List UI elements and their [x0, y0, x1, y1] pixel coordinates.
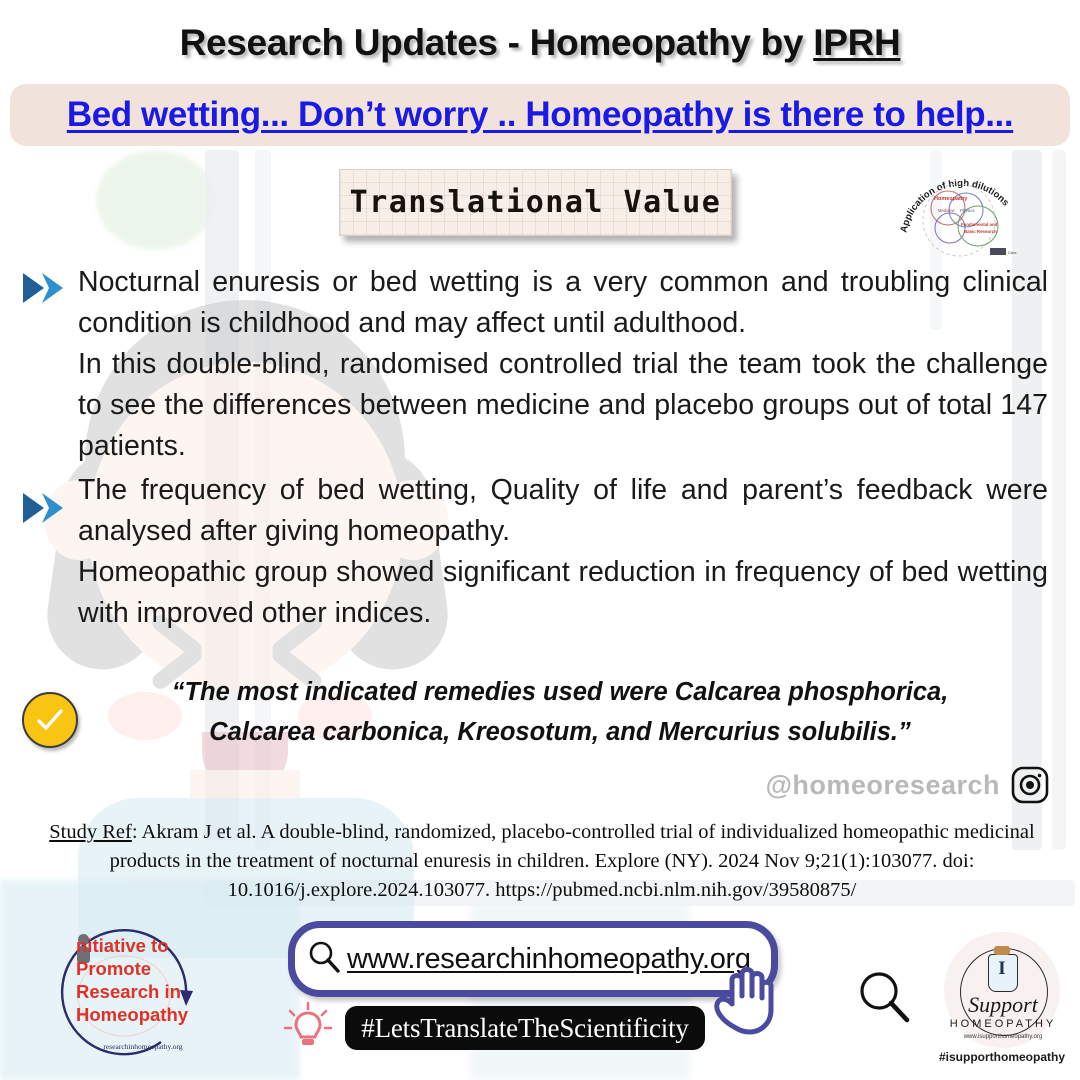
- instagram-handle: @homeoresearch: [766, 770, 1000, 801]
- check-circle-icon: [22, 692, 78, 748]
- iprh-line-2: Promote: [76, 957, 216, 980]
- svg-text:Homeopathy: Homeopathy: [934, 196, 968, 202]
- paragraph-two: The frequency of bed wetting, Quality of…: [78, 470, 1048, 634]
- study-ref-label: Study Ref: [49, 821, 132, 843]
- website-search-bar[interactable]: www.researchinhomeopathy.org: [288, 921, 778, 997]
- search-icon: [855, 968, 913, 1026]
- search-icon: [307, 940, 341, 979]
- study-ref-citation: : Akram J et al. A double-blind, randomi…: [110, 821, 1035, 901]
- iprh-logo-text: nitiative to Promote Research in Homeopa…: [76, 934, 216, 1026]
- quote-line-2: Calcarea carbonica, Kreosotum, and Mercu…: [110, 712, 1010, 752]
- lightbulb-icon: [282, 1001, 334, 1055]
- svg-text:Fundamental and: Fundamental and: [961, 222, 998, 227]
- page-title-text: Research Updates - Homeopathy by: [180, 22, 814, 63]
- paragraph-one-sentence-2: In this double-blind, randomised control…: [78, 344, 1048, 467]
- green-blob: [96, 150, 216, 250]
- iprh-logo-url: researchinhomeopathy.org: [68, 1042, 218, 1051]
- double-chevron-icon: [22, 490, 68, 526]
- paragraph-one: Nocturnal enuresis or bed wetting is a v…: [78, 262, 1048, 467]
- vial-letter: I: [988, 958, 1016, 980]
- bed-post: [1052, 150, 1066, 850]
- translational-value-plaque: Translational Value: [339, 169, 732, 236]
- high-dilutions-venn-thumbnail: Application of high dilutions Homeopathy…: [898, 160, 1020, 260]
- iprh-line-3: Research in: [76, 980, 216, 1003]
- translational-value-label: Translational Value: [350, 185, 722, 220]
- website-url[interactable]: www.researchinhomeopathy.org: [347, 943, 751, 976]
- support-url: www.isupporthomeopathy.org: [952, 1034, 1054, 1040]
- paragraph-two-sentence-1: The frequency of bed wetting, Quality of…: [78, 470, 1048, 552]
- subtitle-text: Bed wetting... Don’t worry .. Homeopathy…: [67, 95, 1013, 135]
- svg-text:Data: Data: [1008, 250, 1017, 255]
- page-title: Research Updates - Homeopathy by IPRH: [0, 22, 1080, 64]
- key-quote: “The most indicated remedies used were C…: [110, 672, 1010, 752]
- svg-text:Medicine: Medicine: [938, 208, 955, 213]
- paragraph-two-sentence-2: Homeopathic group showed significant red…: [78, 552, 1048, 634]
- page-title-org: IPRH: [813, 22, 900, 63]
- iprh-logo: nitiative to Promote Research in Homeopa…: [38, 918, 213, 1068]
- quote-line-1: “The most indicated remedies used were C…: [110, 672, 1010, 712]
- social-handle-row[interactable]: @homeoresearch: [0, 765, 1050, 805]
- infographic-poster: Research Updates - Homeopathy by IPRH Be…: [0, 0, 1080, 1080]
- iprh-line-1: nitiative to: [76, 934, 216, 957]
- hashtag-text: #LetsTranslateTheScientificity: [361, 1013, 688, 1044]
- support-homeopathy-word: HOMEOPATHY: [948, 1018, 1058, 1030]
- double-chevron-icon: [22, 270, 68, 306]
- i-support-homeopathy-badge: I Support HOMEOPATHY www.isupporthomeopa…: [938, 930, 1066, 1070]
- svg-text:Basic Research: Basic Research: [964, 229, 997, 234]
- support-word: Support: [952, 992, 1054, 1018]
- paragraph-one-sentence-1: Nocturnal enuresis or bed wetting is a v…: [78, 262, 1048, 344]
- study-reference: Study Ref: Akram J et al. A double-blind…: [22, 818, 1062, 905]
- iprh-line-4: Homeopathy: [76, 1003, 216, 1026]
- subtitle-banner: Bed wetting... Don’t worry .. Homeopathy…: [10, 84, 1070, 146]
- hashtag-banner: #LetsTranslateTheScientificity: [345, 1006, 705, 1050]
- svg-text:Physics: Physics: [960, 208, 974, 213]
- hand-pointer-icon: [706, 958, 792, 1036]
- instagram-icon[interactable]: [1010, 765, 1050, 805]
- support-hashtag: #isupporthomeopathy: [938, 1050, 1066, 1064]
